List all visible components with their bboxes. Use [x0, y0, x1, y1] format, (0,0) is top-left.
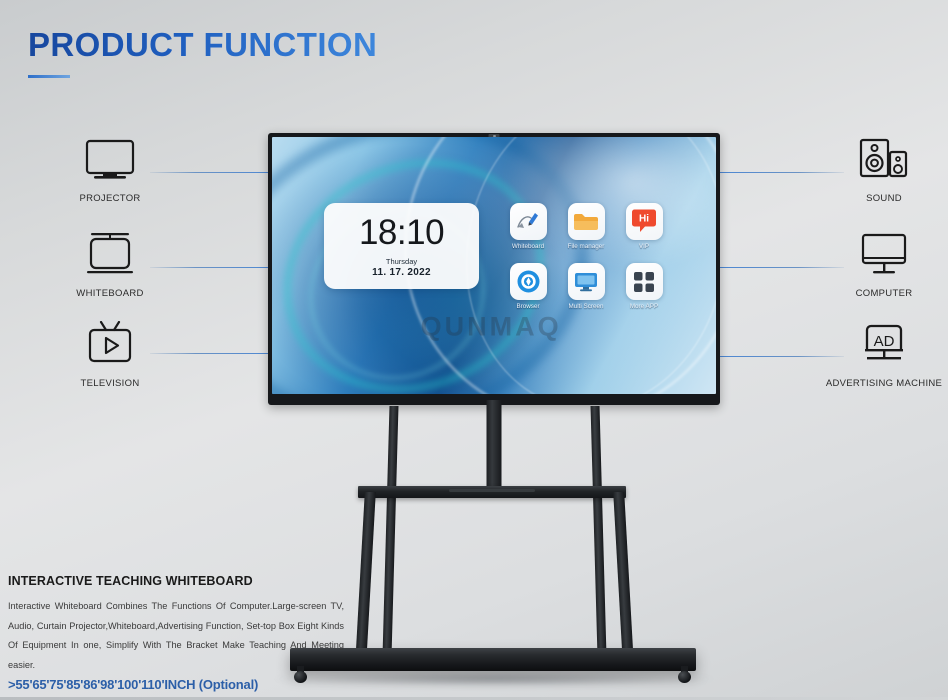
stand-leg-left: [355, 492, 376, 664]
feature-projector[interactable]: PROJECTOR: [44, 136, 176, 204]
feature-computer[interactable]: COMPUTER: [818, 231, 948, 299]
whiteboard-icon: [79, 231, 141, 283]
app-more[interactable]: More APP: [618, 263, 670, 319]
product-function-infographic: PRODUCT FUNCTION PROJECTOR: [0, 0, 948, 700]
title-underline: [28, 75, 70, 78]
clock-widget[interactable]: 18:10 Thursday 11. 17. 2022: [324, 203, 479, 289]
ad-display-icon: AD: [853, 321, 915, 373]
app-multi-screen[interactable]: Multi Screen: [560, 263, 612, 319]
svg-text:AD: AD: [874, 333, 895, 350]
app-label: VIP: [639, 243, 649, 250]
feature-label: SOUND: [866, 193, 902, 204]
speaker-icon: [853, 136, 915, 188]
multi-screen-icon: [568, 263, 605, 300]
interactive-display: QUNMAQ 18:10 Thursday 11. 17. 2022: [268, 133, 720, 405]
feature-label: TELEVISION: [81, 378, 140, 389]
browser-icon: [510, 263, 547, 300]
chat-bubble-icon: Hi: [626, 203, 663, 240]
grid-apps-icon: [626, 263, 663, 300]
feature-label: ADVERTISING MACHINE: [826, 378, 942, 389]
display-screen[interactable]: QUNMAQ 18:10 Thursday 11. 17. 2022: [272, 137, 716, 394]
stand-neck: [487, 400, 502, 492]
app-file-manager[interactable]: File manager: [560, 203, 612, 259]
stand-column-right: [591, 406, 607, 656]
description-heading: INTERACTIVE TEACHING WHITEBOARD: [8, 574, 344, 588]
stand-column-left: [383, 406, 399, 656]
clock-weekday: Thursday: [386, 257, 417, 266]
app-grid: Whiteboard File manager: [502, 203, 670, 319]
app-vip[interactable]: Hi VIP: [618, 203, 670, 259]
stand-base: [290, 648, 696, 671]
description-body: Interactive Whiteboard Combines The Func…: [8, 597, 344, 675]
app-browser[interactable]: Browser: [502, 263, 554, 319]
whiteboard-app-icon: [510, 203, 547, 240]
app-label: More APP: [630, 303, 658, 310]
feature-television[interactable]: TELEVISION: [44, 321, 176, 389]
page-title: PRODUCT FUNCTION: [28, 26, 377, 64]
computer-monitor-icon: [853, 231, 915, 283]
feature-whiteboard[interactable]: WHITEBOARD: [44, 231, 176, 299]
app-label: Multi Screen: [569, 303, 604, 310]
stand-leg-right: [613, 492, 634, 664]
size-options: >55'65'75'85'86'98'100'110'INCH (Optiona…: [8, 677, 344, 692]
folder-icon: [568, 203, 605, 240]
feature-advertising-machine[interactable]: AD ADVERTISING MACHINE: [818, 321, 948, 389]
app-whiteboard[interactable]: Whiteboard: [502, 203, 554, 259]
app-label: File manager: [568, 243, 605, 250]
feature-label: COMPUTER: [856, 288, 913, 299]
projector-icon: [79, 136, 141, 188]
clock-time: 18:10: [359, 215, 444, 250]
app-label: Whiteboard: [512, 243, 544, 250]
svg-text:Hi: Hi: [639, 213, 649, 224]
caster-wheel-right: [678, 666, 691, 683]
clock-date: 11. 17. 2022: [372, 267, 431, 278]
feature-label: WHITEBOARD: [76, 288, 143, 299]
stand-shelf: [358, 486, 626, 498]
page-title-block: PRODUCT FUNCTION: [28, 26, 377, 78]
television-icon: [79, 321, 141, 373]
feature-label: PROJECTOR: [79, 193, 140, 204]
app-label: Browser: [516, 303, 539, 310]
feature-sound[interactable]: SOUND: [818, 136, 948, 204]
description-block: INTERACTIVE TEACHING WHITEBOARD Interact…: [8, 574, 344, 692]
